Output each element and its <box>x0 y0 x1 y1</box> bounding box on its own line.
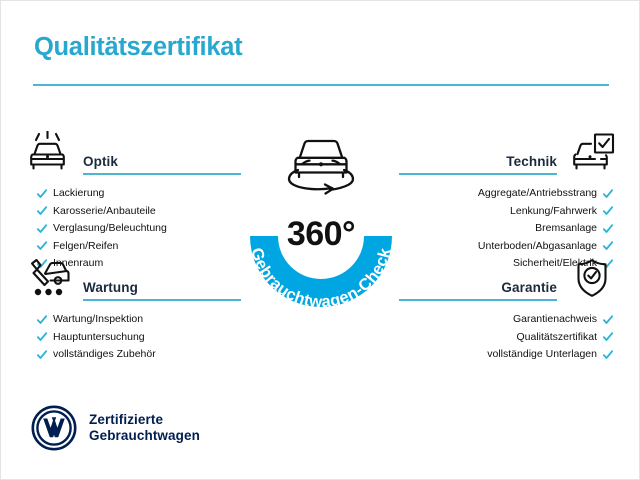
list-item: Lackierung <box>25 185 241 203</box>
section-wartung: Wartung Wartung/Inspektion Hauptuntersuc… <box>25 257 241 364</box>
list-item-label: Felgen/Reifen <box>53 238 118 256</box>
section-wartung-list: Wartung/Inspektion Hauptuntersuchung vol… <box>25 311 241 364</box>
check-icon <box>603 350 613 360</box>
check-icon <box>37 189 47 199</box>
section-garantie-header: Garantie <box>399 257 615 303</box>
section-optik-header: Optik <box>25 131 241 177</box>
section-wartung-header: Wartung <box>25 257 241 303</box>
list-item-label: Wartung/Inspektion <box>53 311 143 329</box>
car-rotate-icon <box>289 141 353 194</box>
list-item-label: Lackierung <box>53 185 104 203</box>
check-icon <box>603 241 613 251</box>
list-item: Aggregate/Antriebsstrang <box>399 185 615 203</box>
page-title: Qualitätszertifikat <box>34 33 242 62</box>
section-optik: Optik Lackierung Karosserie/Anbauteile V… <box>25 131 241 273</box>
list-item-label: Lenkung/Fahrwerk <box>510 203 597 221</box>
list-item-label: Aggregate/Antriebsstrang <box>478 185 597 203</box>
badge-360-gebrauchtwagen-check: Gebrauchtwagen-Check 360° <box>232 119 410 319</box>
section-technik-title: Technik <box>506 154 557 173</box>
section-technik-underline <box>399 173 557 175</box>
brand-line-2: Gebrauchtwagen <box>89 428 200 445</box>
section-technik: Technik Aggregate/Antriebsstrang Lenkung… <box>399 131 615 273</box>
list-item-label: vollständige Unterlagen <box>487 346 597 364</box>
list-item: Unterboden/Abgasanlage <box>399 238 615 256</box>
list-item-label: Bremsanlage <box>535 220 597 238</box>
badge-value: 360° <box>287 215 355 253</box>
section-optik-title: Optik <box>83 154 241 173</box>
section-wartung-underline <box>83 299 241 301</box>
check-icon <box>603 332 613 342</box>
check-icon <box>603 224 613 234</box>
section-garantie: Garantie Garantienachweis Qualitätszerti… <box>399 257 615 364</box>
list-item-label: Garantienachweis <box>513 311 597 329</box>
list-item: Lenkung/Fahrwerk <box>399 203 615 221</box>
list-item-label: vollständiges Zubehör <box>53 346 156 364</box>
check-icon <box>603 206 613 216</box>
check-icon <box>37 350 47 360</box>
list-item: Felgen/Reifen <box>25 238 241 256</box>
check-icon <box>37 224 47 234</box>
check-icon <box>37 206 47 216</box>
vw-logo <box>31 405 77 451</box>
check-icon <box>37 332 47 342</box>
section-optik-underline <box>83 173 241 175</box>
list-item-label: Verglasung/Beleuchtung <box>53 220 167 238</box>
list-item: Qualitätszertifikat <box>399 329 615 347</box>
list-item-label: Qualitätszertifikat <box>516 329 597 347</box>
check-icon <box>37 241 47 251</box>
check-icon <box>37 315 47 325</box>
quality-certificate-page: Qualitätszertifikat Opt <box>0 0 640 480</box>
check-icon <box>603 315 613 325</box>
list-item: Karosserie/Anbauteile <box>25 203 241 221</box>
car-checkbox-icon <box>569 131 615 173</box>
brand-text: Zertifizierte Gebrauchtwagen <box>89 412 200 445</box>
car-service-tool-icon <box>25 257 71 299</box>
list-item: Verglasung/Beleuchtung <box>25 220 241 238</box>
section-garantie-title: Garantie <box>501 280 557 299</box>
list-item: Bremsanlage <box>399 220 615 238</box>
header-divider <box>33 84 609 86</box>
shield-check-icon <box>569 257 615 299</box>
list-item: Wartung/Inspektion <box>25 311 241 329</box>
check-icon <box>603 189 613 199</box>
car-shine-icon <box>25 131 71 173</box>
section-technik-header: Technik <box>399 131 615 177</box>
section-wartung-title: Wartung <box>83 280 241 299</box>
section-garantie-list: Garantienachweis Qualitätszertifikat vol… <box>399 311 615 364</box>
list-item-label: Unterboden/Abgasanlage <box>478 238 597 256</box>
section-garantie-underline <box>399 299 557 301</box>
list-item: vollständige Unterlagen <box>399 346 615 364</box>
list-item: Garantienachweis <box>399 311 615 329</box>
list-item-label: Karosserie/Anbauteile <box>53 203 156 221</box>
list-item: vollständiges Zubehör <box>25 346 241 364</box>
brand-footer: Zertifizierte Gebrauchtwagen <box>31 405 200 451</box>
list-item-label: Hauptuntersuchung <box>53 329 145 347</box>
list-item: Hauptuntersuchung <box>25 329 241 347</box>
brand-line-1: Zertifizierte <box>89 412 200 429</box>
